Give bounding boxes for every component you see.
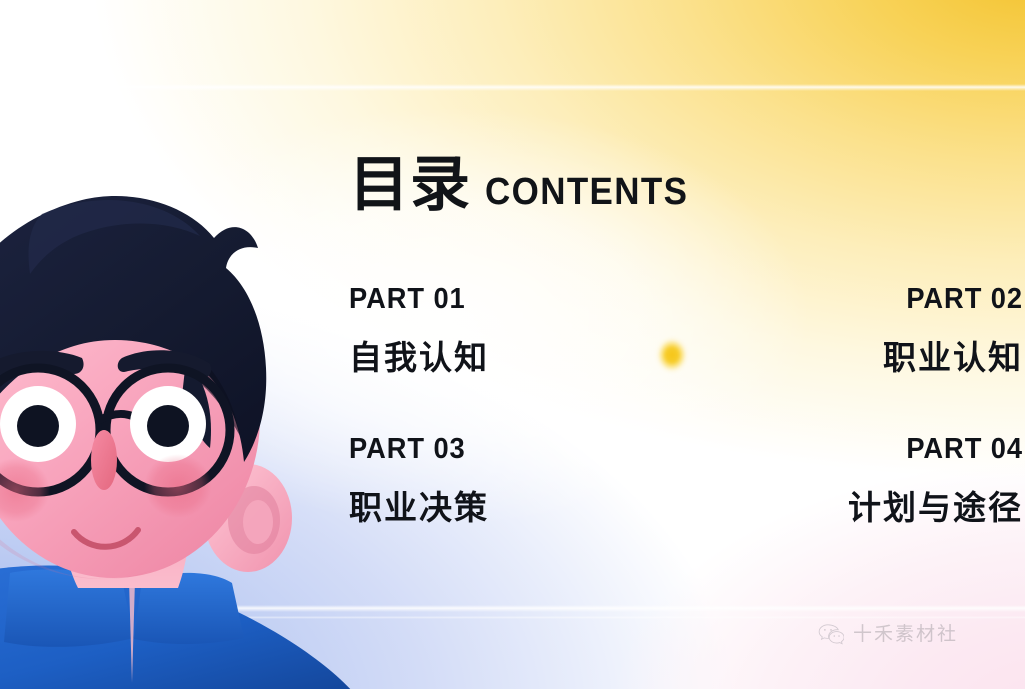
part-number-04: PART 04: [812, 435, 1023, 464]
watermark: 十禾素材社: [818, 622, 958, 646]
contents-item-part-02[interactable]: PART 02 职业认知: [799, 285, 1025, 435]
part-label-02: 职业认知: [799, 341, 1023, 374]
contents-item-part-04[interactable]: PART 04 计划与途径: [799, 435, 1025, 585]
part-number-03: PART 03: [349, 435, 772, 464]
watermark-text: 十禾素材社: [853, 625, 958, 644]
contents-item-part-01[interactable]: PART 01 自我认知: [349, 285, 799, 435]
part-number-02: PART 02: [812, 285, 1023, 314]
title-english: CONTENTS: [485, 173, 688, 215]
contents-item-part-03[interactable]: PART 03 职业决策: [349, 435, 799, 585]
part-label-01: 自我认知: [349, 341, 799, 374]
part-label-03: 职业决策: [349, 491, 799, 524]
slide-canvas: 目录 CONTENTS PART 01 自我认知 PART 02 职业认知 PA…: [0, 0, 1025, 689]
part-number-01: PART 01: [349, 285, 772, 314]
part-label-04: 计划与途径: [799, 491, 1023, 524]
page-title: 目录 CONTENTS: [349, 155, 706, 215]
contents-list: PART 01 自我认知 PART 02 职业认知 PART 03 职业决策 P…: [349, 285, 1025, 565]
wechat-icon: [818, 622, 844, 646]
title-chinese: 目录: [349, 155, 471, 215]
